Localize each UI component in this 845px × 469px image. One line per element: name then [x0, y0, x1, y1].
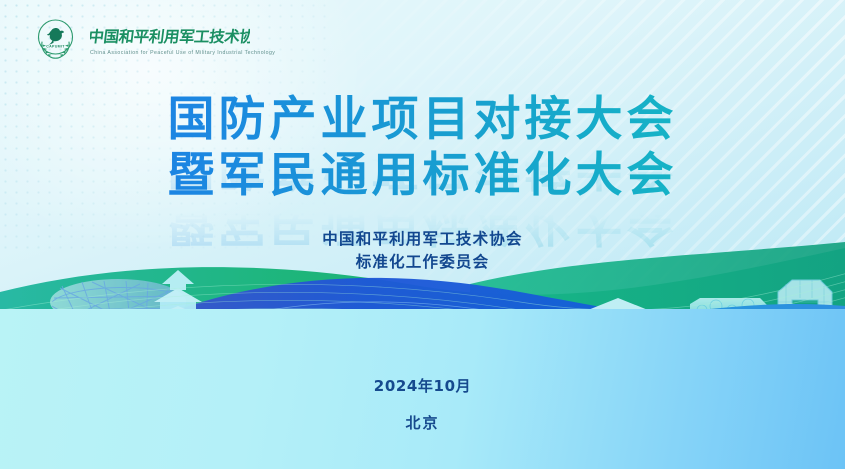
beijing-skyline-waves — [0, 240, 845, 469]
event-date: 2024年10月 — [0, 375, 845, 396]
association-name-cn-calligraphy: 中国和平利用军工技术协会 — [90, 25, 250, 47]
svg-text:CAPUMIT: CAPUMIT — [46, 45, 65, 49]
association-name-cn-text: 中国和平利用军工技术协会 — [90, 27, 250, 46]
title-line-1: 国防产业项目对接大会 — [0, 92, 845, 148]
association-name-en: China Association for Peaceful Use of Mi… — [90, 50, 275, 56]
conference-poster: CAPUMIT 中国和平利用军工技术协会 China Association f… — [0, 0, 845, 469]
title-line-2: 暨军民通用标准化大会 — [0, 148, 845, 204]
association-logo: CAPUMIT 中国和平利用军工技术协会 China Association f… — [30, 13, 275, 64]
event-place: 北京 — [0, 412, 845, 433]
capuit-dove-emblem-icon: CAPUMIT — [30, 13, 81, 64]
main-title-block: 国防产业项目对接大会 暨军民通用标准化大会 国防产业项目对接大会 暨军民通用标准… — [0, 92, 845, 204]
organizer-block: 中国和平利用军工技术协会 标准化工作委员会 — [0, 228, 845, 274]
organizer-line-1: 中国和平利用军工技术协会 — [0, 228, 845, 251]
organizer-line-2: 标准化工作委员会 — [0, 251, 845, 274]
